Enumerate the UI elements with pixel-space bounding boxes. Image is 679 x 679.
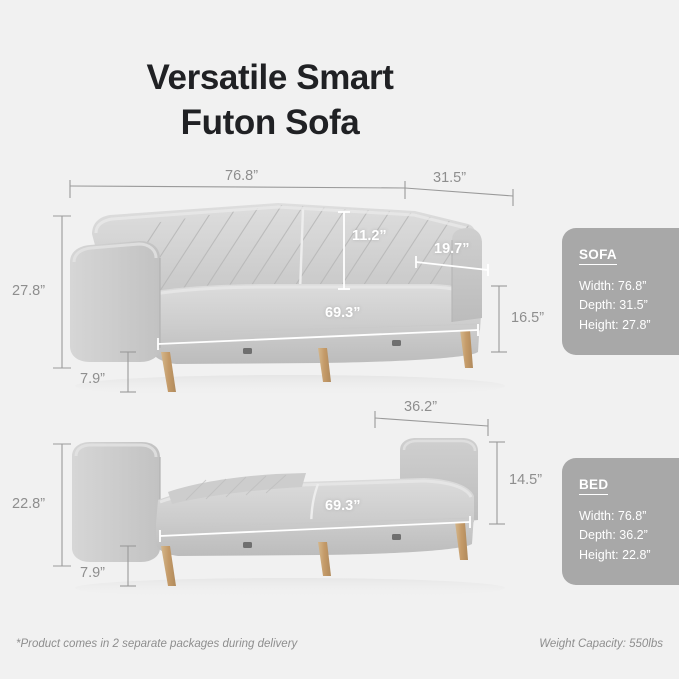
packaging-note: *Product comes in 2 separate packages du…: [16, 638, 297, 650]
sofa-spec-card: SOFA Width: 76.8” Depth: 31.5” Height: 2…: [562, 228, 679, 355]
bed-height-label: 22.8”: [12, 496, 45, 512]
bed-spec-card-title: BED: [579, 477, 608, 495]
sofa-seat-height-label: 16.5”: [511, 310, 544, 326]
sofa-height-label: 27.8”: [12, 283, 45, 299]
sofa-seat-width-label: 69.3”: [325, 305, 360, 321]
bed-spec-width: Width: 76.8”: [579, 507, 679, 526]
bed-illustration: [72, 438, 505, 598]
sofa-depth-label: 31.5”: [433, 170, 466, 186]
sofa-spec-depth: Depth: 31.5”: [579, 296, 679, 315]
sofa-spec-card-title: SOFA: [579, 247, 617, 265]
sofa-arm-depth-label: 19.7”: [434, 241, 469, 257]
weight-capacity-note: Weight Capacity: 550lbs: [539, 638, 663, 650]
sofa-illustration: [70, 200, 505, 397]
bed-leg-height-label: 7.9”: [80, 565, 105, 581]
infographic-canvas: Versatile Smart Futon Sofa: [0, 0, 679, 679]
sofa-spec-width: Width: 76.8”: [579, 277, 679, 296]
bed-depth-label: 36.2”: [404, 399, 437, 415]
bed-arm-height-label: 14.5”: [509, 472, 542, 488]
sofa-backrest-height-label: 11.2”: [352, 228, 387, 244]
sofa-spec-height: Height: 27.8”: [579, 316, 679, 335]
bed-spec-card: BED Width: 76.8” Depth: 36.2” Height: 22…: [562, 458, 679, 585]
sofa-leg-height-label: 7.9”: [80, 371, 105, 387]
sofa-width-label: 76.8”: [225, 168, 258, 184]
bed-spec-depth: Depth: 36.2”: [579, 526, 679, 545]
bed-sleep-width-label: 69.3”: [325, 498, 360, 514]
bed-spec-height: Height: 22.8”: [579, 546, 679, 565]
